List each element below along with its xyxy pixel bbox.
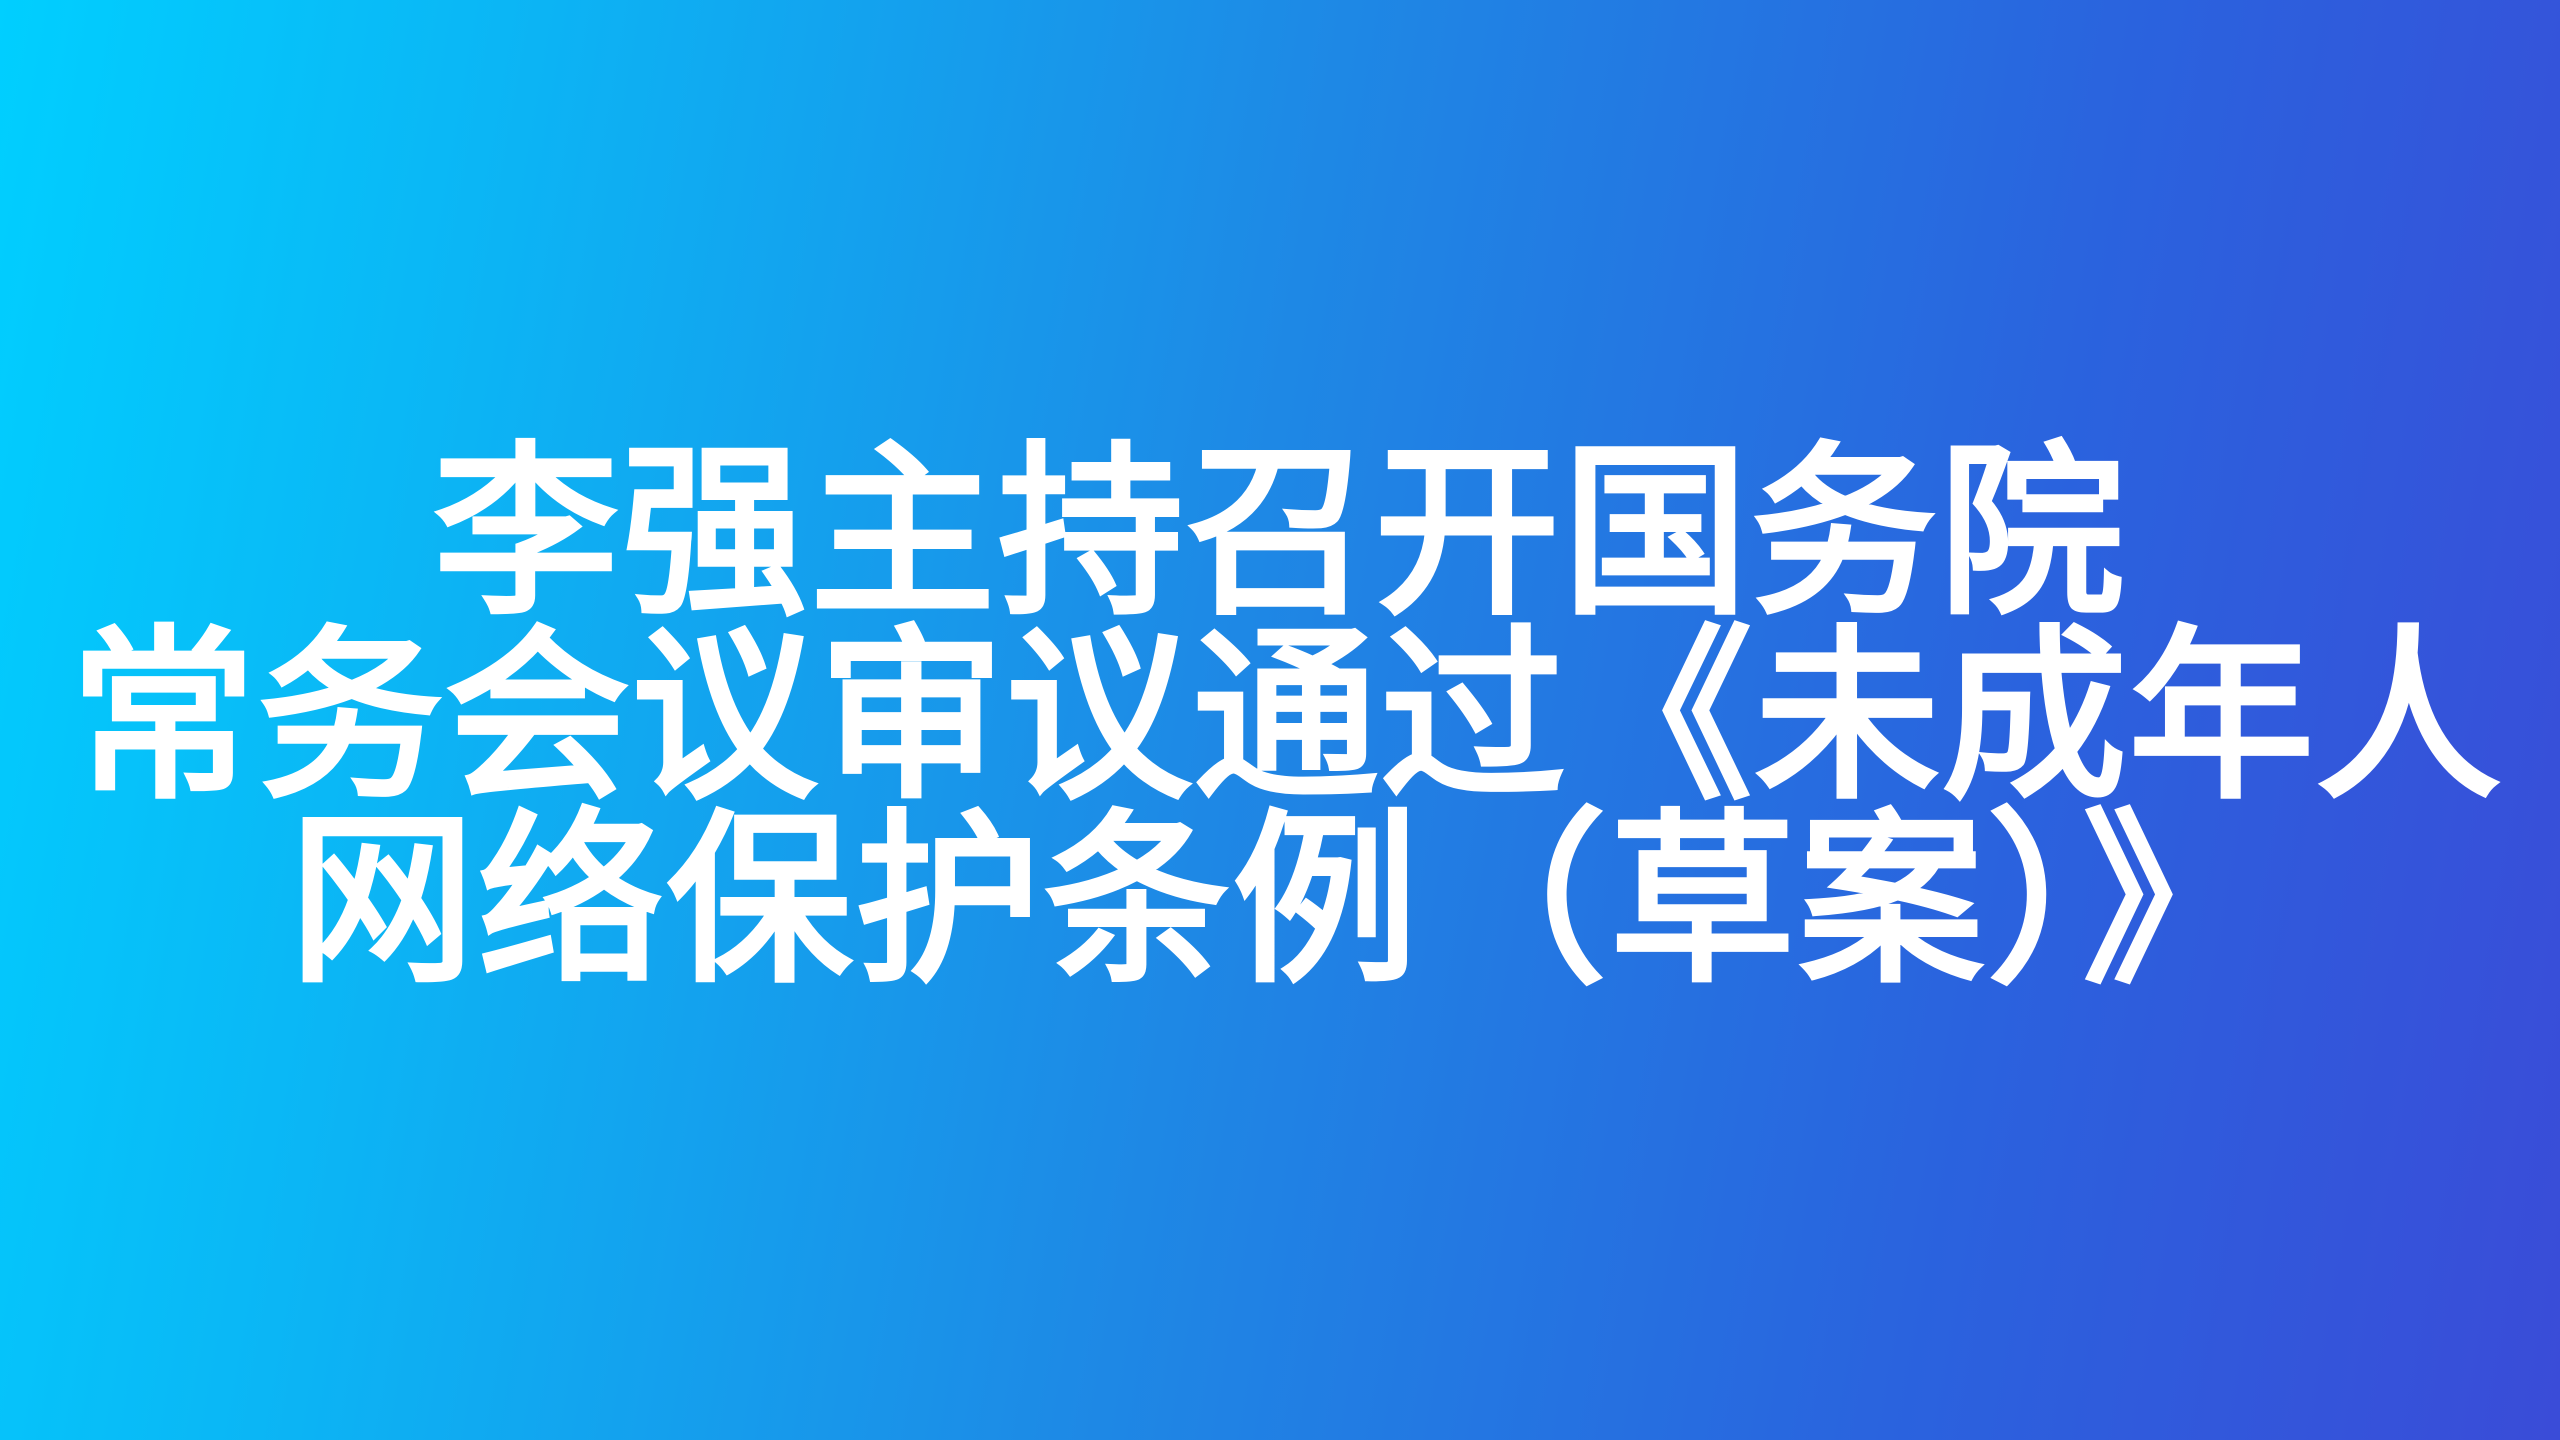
headline-line-1: 李强主持召开国务院 (70, 441, 2490, 625)
news-headline-banner: 李强主持召开国务院 常务会议审议通过《未成年人 网络保护条例（草案）》 (0, 0, 2560, 1440)
headline-line-3: 网络保护条例（草案）》 (70, 809, 2490, 993)
headline-line-2: 常务会议审议通过《未成年人 (70, 625, 2490, 809)
headline-text-block: 李强主持召开国务院 常务会议审议通过《未成年人 网络保护条例（草案）》 (70, 441, 2490, 999)
